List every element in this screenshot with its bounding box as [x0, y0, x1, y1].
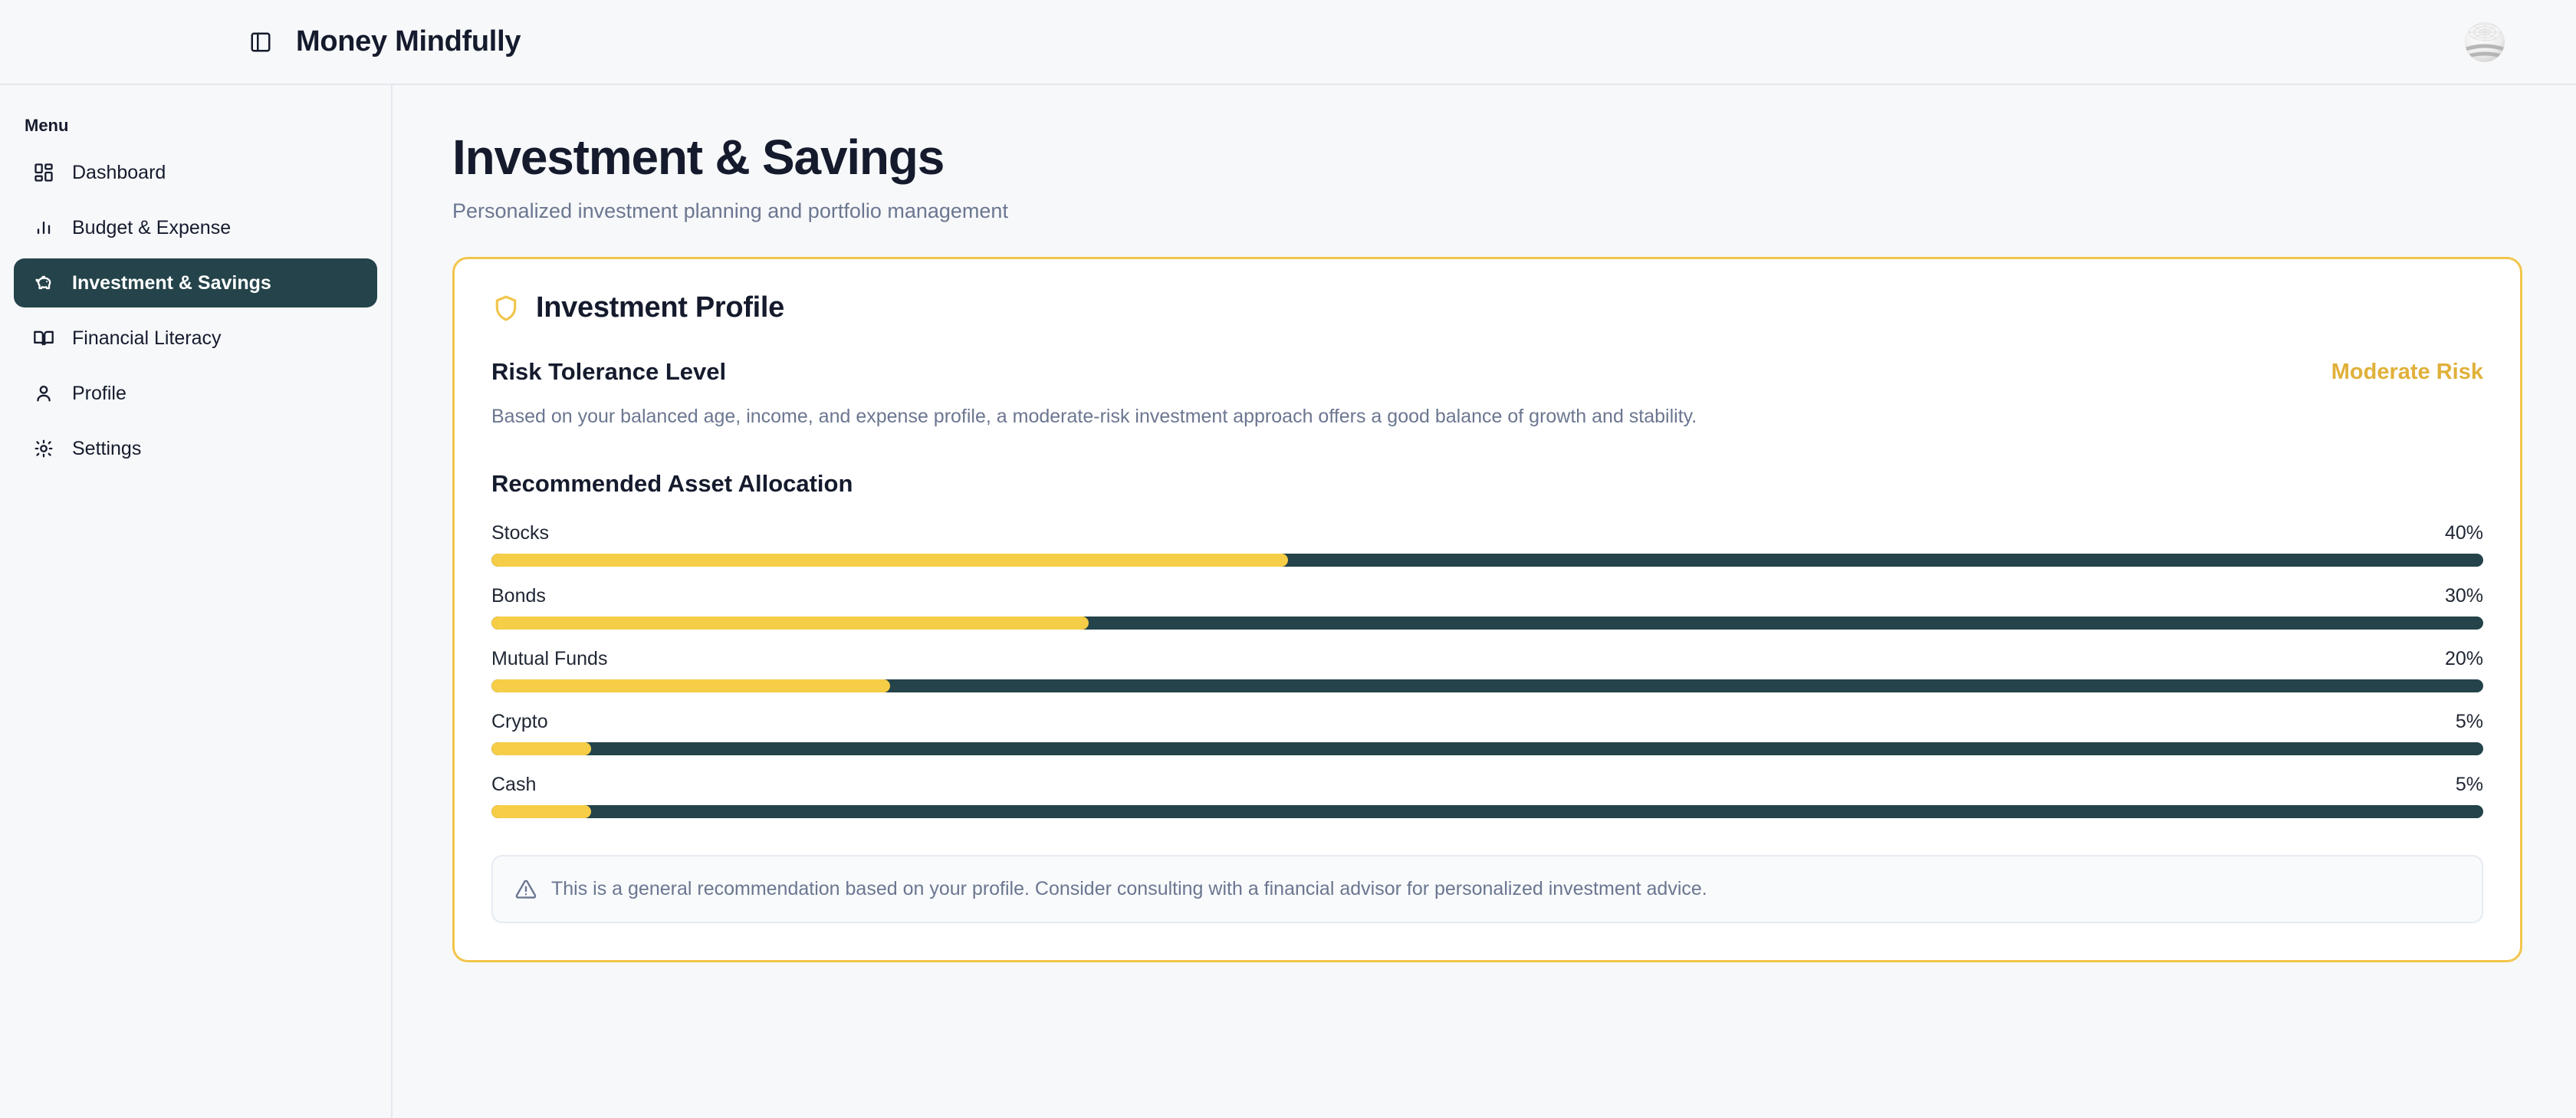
sidebar-nav-list: Dashboard Budget & Expense — [0, 148, 391, 473]
allocation-label-row: Cash5% — [491, 774, 2483, 796]
allocation-asset-name: Bonds — [491, 585, 546, 607]
sidebar-item-dashboard[interactable]: Dashboard — [14, 148, 377, 197]
sidebar-item-profile[interactable]: Profile — [14, 369, 377, 418]
risk-tolerance-row: Risk Tolerance Level Moderate Risk — [491, 358, 2483, 386]
card-header: Investment Profile — [491, 291, 2483, 324]
piggy-bank-icon — [32, 271, 55, 294]
allocation-row: Mutual Funds20% — [491, 648, 2483, 692]
disclaimer-text: This is a general recommendation based o… — [551, 876, 1707, 902]
risk-level-badge: Moderate Risk — [2331, 360, 2483, 385]
disclaimer-note: This is a general recommendation based o… — [491, 855, 2483, 923]
page-subtitle: Personalized investment planning and por… — [452, 199, 2522, 223]
layout-grid-icon — [32, 161, 55, 184]
allocation-asset-name: Crypto — [491, 711, 548, 733]
sidebar-item-label: Investment & Savings — [72, 274, 271, 293]
sidebar-section-label: Menu — [0, 108, 391, 148]
allocation-row: Crypto5% — [491, 711, 2483, 755]
allocation-label-row: Crypto5% — [491, 711, 2483, 733]
allocation-row: Cash5% — [491, 774, 2483, 818]
warning-triangle-icon — [514, 878, 537, 901]
sidebar-item-label: Budget & Expense — [72, 219, 231, 238]
sidebar-item-label: Dashboard — [72, 163, 166, 182]
panel-left-icon — [249, 31, 272, 54]
bar-chart-icon — [32, 216, 55, 239]
app-root: Money Mindfully — [0, 0, 2576, 1118]
allocation-asset-name: Stocks — [491, 522, 549, 544]
allocation-heading: Recommended Asset Allocation — [491, 470, 2483, 498]
allocation-asset-name: Cash — [491, 774, 536, 796]
shield-icon — [491, 294, 521, 323]
sidebar-item-label: Financial Literacy — [72, 329, 222, 348]
allocation-bar-track — [491, 554, 2483, 567]
user-icon — [32, 382, 55, 405]
allocation-bar-fill — [491, 617, 1089, 630]
allocation-percent-value: 30% — [2445, 585, 2483, 607]
allocation-percent-value: 5% — [2456, 711, 2483, 733]
risk-tolerance-heading: Risk Tolerance Level — [491, 358, 726, 386]
allocation-bar-track — [491, 805, 2483, 818]
page-title: Investment & Savings — [452, 131, 2522, 184]
body-row: Menu Dashboard — [0, 85, 2576, 1118]
allocation-percent-value: 40% — [2445, 522, 2483, 544]
brand-title: Money Mindfully — [296, 25, 521, 58]
gear-icon — [32, 437, 55, 460]
sidebar-item-financial-literacy[interactable]: Financial Literacy — [14, 314, 377, 363]
top-bar: Money Mindfully — [0, 0, 2576, 85]
allocation-label-row: Stocks40% — [491, 522, 2483, 544]
sidebar-item-label: Settings — [72, 439, 141, 459]
allocation-row: Stocks40% — [491, 522, 2483, 567]
book-open-icon — [32, 327, 55, 350]
allocation-bar-fill — [491, 805, 591, 818]
allocation-percent-value: 5% — [2456, 774, 2483, 796]
allocation-bar-track — [491, 679, 2483, 692]
sidebar: Menu Dashboard — [0, 85, 393, 1118]
allocation-asset-name: Mutual Funds — [491, 648, 607, 670]
sidebar-item-investment-savings[interactable]: Investment & Savings — [14, 258, 377, 307]
allocation-bar-track — [491, 617, 2483, 630]
sidebar-item-settings[interactable]: Settings — [14, 424, 377, 473]
allocation-list: Stocks40%Bonds30%Mutual Funds20%Crypto5%… — [491, 522, 2483, 818]
sidebar-item-label: Profile — [72, 384, 127, 403]
allocation-bar-fill — [491, 742, 591, 755]
sidebar-toggle-button[interactable] — [244, 25, 278, 59]
main-content: Investment & Savings Personalized invest… — [393, 85, 2576, 1118]
allocation-row: Bonds30% — [491, 585, 2483, 630]
allocation-label-row: Mutual Funds20% — [491, 648, 2483, 670]
card-title: Investment Profile — [536, 291, 784, 324]
avatar[interactable] — [2458, 15, 2512, 69]
allocation-bar-fill — [491, 679, 890, 692]
investment-profile-card: Investment Profile Risk Tolerance Level … — [452, 257, 2522, 962]
allocation-label-row: Bonds30% — [491, 585, 2483, 607]
allocation-bar-track — [491, 742, 2483, 755]
user-avatar-image — [2458, 15, 2512, 69]
sidebar-item-budget-expense[interactable]: Budget & Expense — [14, 203, 377, 252]
allocation-bar-fill — [491, 554, 1288, 567]
allocation-percent-value: 20% — [2445, 648, 2483, 670]
risk-description: Based on your balanced age, income, and … — [491, 403, 2483, 430]
